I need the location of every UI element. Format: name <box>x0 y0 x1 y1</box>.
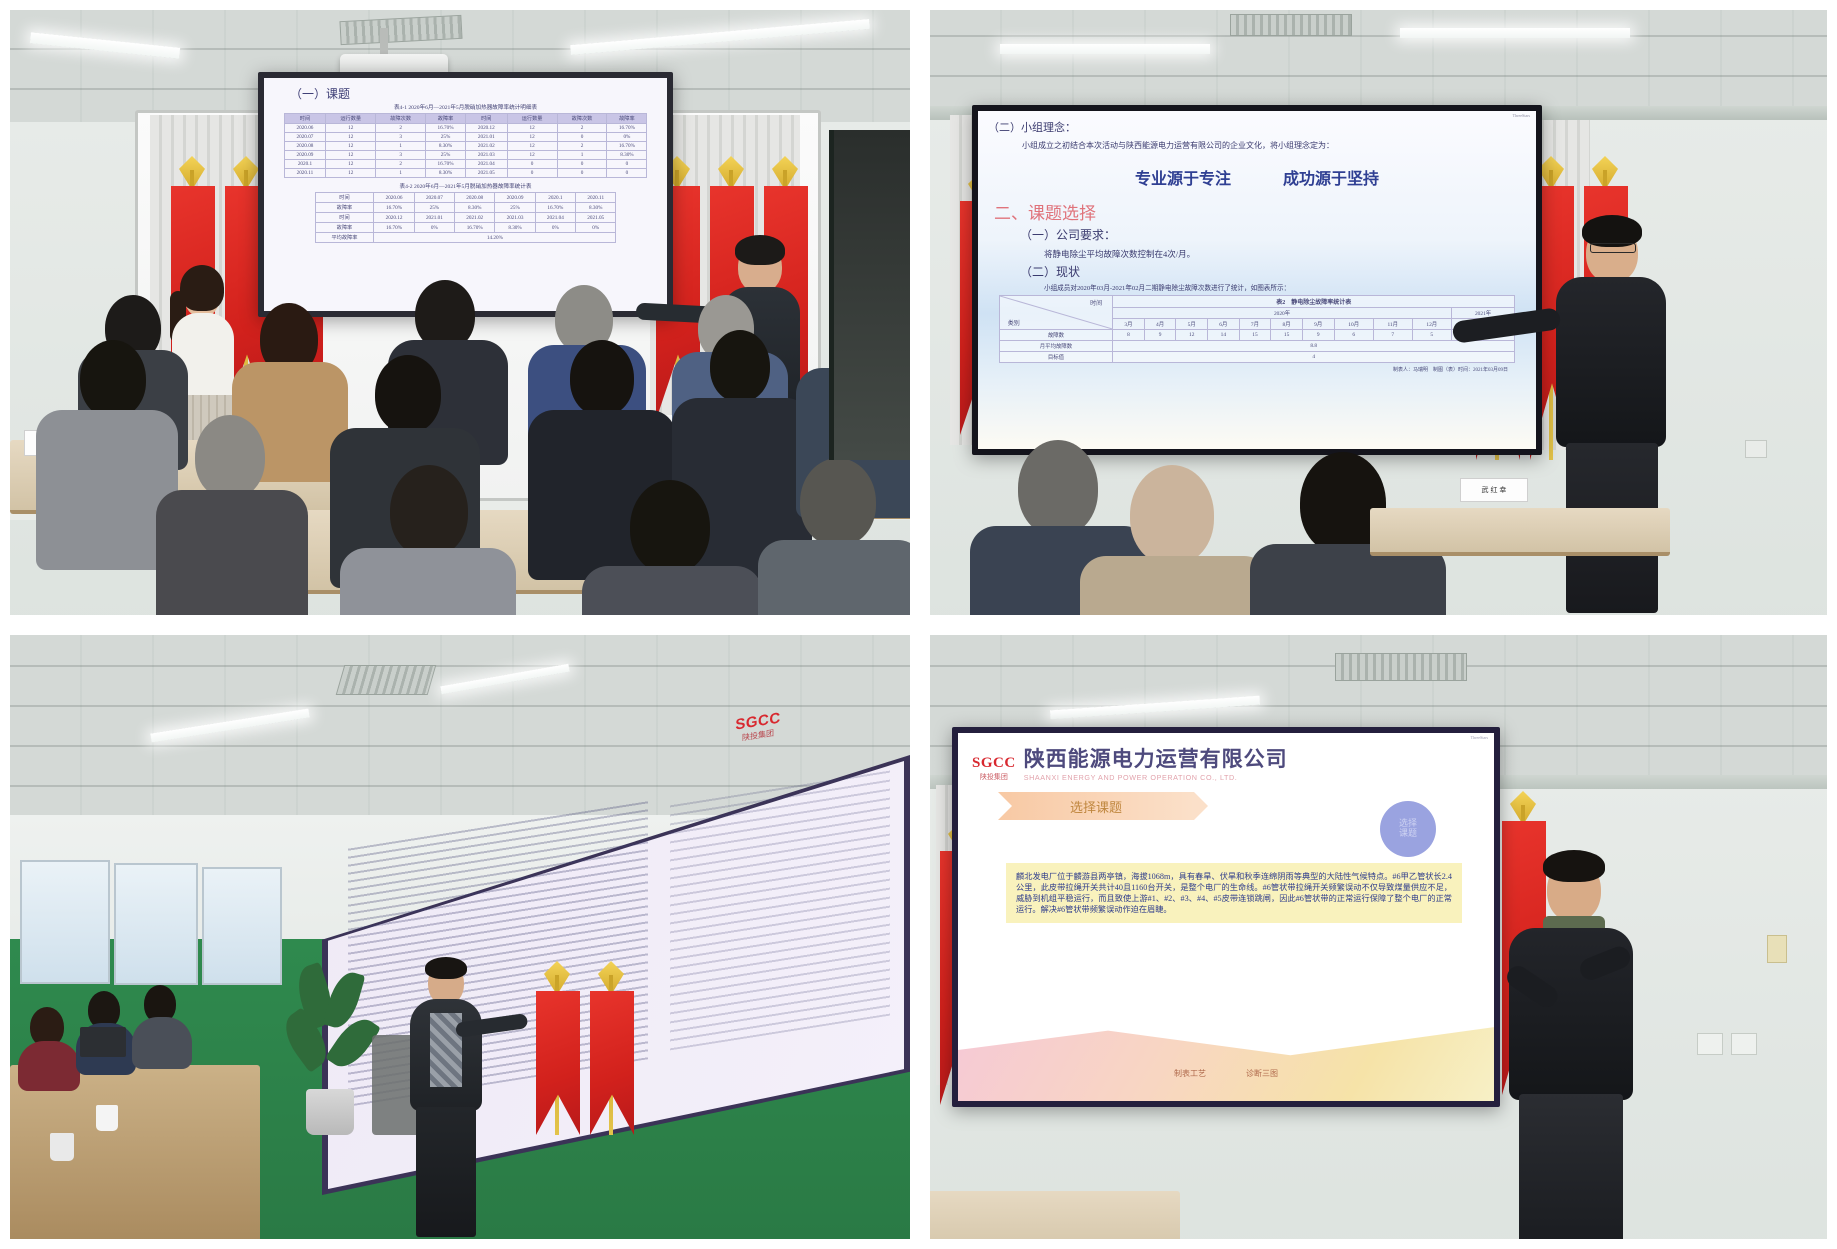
table-cell: 12 <box>326 151 376 160</box>
logo-block: SGCC 陕投集团 <box>972 755 1016 782</box>
table-row: 故障率16.70%0%16.70%8.30%0%0% <box>315 223 616 233</box>
nameplate: 武 红 幸 <box>1460 478 1528 502</box>
slide-footer-labels: 制表工艺 诊断三图 <box>958 1068 1494 1079</box>
table-row: 时间2020.122021.012021.022021.032021.04202… <box>315 213 616 223</box>
ceiling-vent <box>336 665 437 695</box>
table-title: 表2 静电除尘故障率统计表 <box>1113 296 1515 308</box>
audience-head <box>80 340 146 418</box>
month-header: 7月 <box>1239 319 1271 330</box>
table-cell: 2020.11 <box>576 193 616 203</box>
torso <box>18 1041 80 1091</box>
footer-right-label: 诊断三图 <box>1246 1068 1278 1079</box>
target-value: 4 <box>1113 352 1515 363</box>
hair <box>1543 850 1605 882</box>
fault-detail-table: 时间运行数量故障次数故障率时间运行数量故障次数故障率 2020.0612216.… <box>284 113 648 178</box>
table-cell: 2020.06 <box>284 124 326 133</box>
avg-value: 14.20% <box>374 233 616 243</box>
table-cell: 0 <box>607 160 647 169</box>
slide-top-right: ThreeStars （二）小组理念： 小组成立之初结合本次活动与陕西能源电力运… <box>978 111 1536 449</box>
table-cell: 0 <box>507 169 557 178</box>
table-caption-1: 表4-1 2020年6月—2021年5月脱硝加热器故障率统计明细表 <box>272 103 659 111</box>
table-cell: 2 <box>376 124 426 133</box>
potted-plant <box>286 965 374 1135</box>
table-cell: 8.30% <box>607 151 647 160</box>
slide-footer: 制表人：马瑞明 制图（表）时间：2021年03月09日 <box>988 366 1508 373</box>
table-cell: 0 <box>557 133 607 142</box>
torso-jacket <box>1556 277 1666 447</box>
slide-right-column <box>670 766 890 1051</box>
table-cell: 12 <box>326 142 376 151</box>
projection-screen: （一）课题 表4-1 2020年6月—2021年5月脱硝加热器故障率统计明细表 … <box>264 78 667 311</box>
logo-sub: 陕投集团 <box>980 772 1008 782</box>
presenter-male <box>1485 850 1675 1239</box>
table-cell: 0 <box>607 169 647 178</box>
fault-value: 7 <box>1373 330 1412 341</box>
table-cell: 16.70% <box>535 203 575 213</box>
table-cell: 2020.09 <box>495 193 535 203</box>
table-cell: 8.30% <box>495 223 535 233</box>
diagonal-divider-icon <box>1000 296 1112 329</box>
audience-head <box>390 465 468 557</box>
table-cell: 2021.01 <box>465 133 507 142</box>
fault-value: 15 <box>1271 330 1303 341</box>
table-row: 2020.0612216.70%2020.1212216.70% <box>284 124 647 133</box>
motto-right: 成功源于坚持 <box>1283 165 1379 189</box>
month-header: 8月 <box>1271 319 1303 330</box>
photo-top-left: （一）课题 表4-1 2020年6月—2021年5月脱硝加热器故障率统计明细表 … <box>10 10 910 615</box>
table-cell: 2020.08 <box>455 193 495 203</box>
banner-flag <box>530 965 584 1135</box>
legs <box>1519 1094 1623 1239</box>
table-cell: 2020.07 <box>284 133 326 142</box>
table-cell: 8.30% <box>576 203 616 213</box>
table-cell: 2 <box>376 160 426 169</box>
photo-bottom-right: ThreeStars SGCC 陕投集团 陕西能源电力运营有限公司 SHAANX… <box>930 635 1827 1239</box>
hair <box>735 235 785 265</box>
table-row-title: 时间 类别 表2 静电除尘故障率统计表 <box>999 296 1514 308</box>
window <box>114 863 198 985</box>
column-header: 故障率 <box>607 114 647 124</box>
logo-abbr: SGCC <box>972 755 1016 772</box>
table-cell: 25% <box>414 203 454 213</box>
column-header: 时间 <box>284 114 326 124</box>
table-cell: 8.30% <box>455 203 495 213</box>
pot <box>306 1089 354 1135</box>
table-cell: 12 <box>507 151 557 160</box>
fault-value: 9 <box>1144 330 1176 341</box>
fault-value: 6 <box>1334 330 1373 341</box>
slide-line1: （二）小组理念： <box>988 119 1526 135</box>
table-cell: 0 <box>507 160 557 169</box>
table-cell: 12 <box>326 133 376 142</box>
month-header: 10月 <box>1334 319 1373 330</box>
table-cell: 2021.04 <box>465 160 507 169</box>
wall-outlet <box>1697 1033 1723 1055</box>
table-cell: 2021.04 <box>535 213 575 223</box>
table-cell: 1 <box>557 151 607 160</box>
wall-outlet <box>1745 440 1767 458</box>
month-header: 3月 <box>1113 319 1145 330</box>
section-ribbon: 选择课题 <box>998 792 1194 820</box>
table-cell: 2021.05 <box>576 213 616 223</box>
company-name-cn: 陕西能源电力运营有限公司 <box>1024 743 1288 773</box>
fault-value: 9 <box>1302 330 1334 341</box>
month-header: 6月 <box>1208 319 1240 330</box>
brand-badge-threestars: ThreeStars <box>1513 113 1530 118</box>
slide-line2: 小组成立之初结合本次活动与陕西能源电力运营有限公司的企业文化，将小组理念定为： <box>1022 140 1526 151</box>
body-text-box: 麟北发电厂位于麟游县两亭镇，海拔1068m，具有春旱、伏旱和秋季连绵阴雨等典型的… <box>1006 863 1462 923</box>
panel-top-left: （一）课题 表4-1 2020年6月—2021年5月脱硝加热器故障率统计明细表 … <box>0 0 920 625</box>
table-row: 2020.112216.70%2021.04000 <box>284 160 647 169</box>
glasses-icon <box>1590 243 1636 253</box>
month-header: 4月 <box>1144 319 1176 330</box>
table-cell: 16.70% <box>426 160 466 169</box>
table-cell: 25% <box>426 151 466 160</box>
table-cell: 12 <box>507 124 557 133</box>
hair <box>425 957 467 979</box>
month-header: 11月 <box>1373 319 1412 330</box>
row-label: 故障数 <box>999 330 1112 341</box>
dust-fault-table: 时间 类别 表2 静电除尘故障率统计表 2020年 2021年 3月4月5月6 <box>999 295 1515 363</box>
table-cell: 2020.09 <box>284 151 326 160</box>
ceiling <box>930 10 1827 115</box>
table-cell: 12 <box>326 169 376 178</box>
legs <box>416 1107 476 1237</box>
audience-table <box>1370 508 1670 556</box>
panel-bottom-right: ThreeStars SGCC 陕投集团 陕西能源电力运营有限公司 SHAANX… <box>920 625 1837 1249</box>
table-cell: 16.70% <box>426 124 466 133</box>
table-cell: 故障率 <box>315 223 374 233</box>
company-block: 陕西能源电力运营有限公司 SHAANXI ENERGY AND POWER OP… <box>1024 743 1288 782</box>
table-cell: 2 <box>557 142 607 151</box>
photo-bottom-left: SGCC 陕投集团 <box>10 635 910 1239</box>
flag-group <box>530 965 638 1135</box>
sub2-text: 小组成员对2020年03月-2021年02月二期静电除尘故障次数进行了统计，如图… <box>1044 282 1526 292</box>
section-title: 二、课题选择 <box>994 199 1526 224</box>
projection-screen: ThreeStars （二）小组理念： 小组成立之初结合本次活动与陕西能源电力运… <box>978 111 1536 449</box>
sub1: （一）公司要求： <box>1020 226 1526 243</box>
avg-label: 平均故障率 <box>315 233 374 243</box>
table-cell: 0% <box>576 223 616 233</box>
column-header: 时间 <box>465 114 507 124</box>
audience-body <box>156 490 308 615</box>
slide-bottom-right: ThreeStars SGCC 陕投集团 陕西能源电力运营有限公司 SHAANX… <box>958 733 1494 1101</box>
table-cell: 时间 <box>315 213 374 223</box>
table-cell: 时间 <box>315 193 374 203</box>
photo-collage: （一）课题 表4-1 2020年6月—2021年5月脱硝加热器故障率统计明细表 … <box>0 0 1837 1249</box>
fault-value: 12 <box>1176 330 1208 341</box>
hair <box>180 265 224 311</box>
table-row: 2020.0712325%2021.011200% <box>284 133 647 142</box>
table-cell: 2021.03 <box>465 151 507 160</box>
table-cell: 2020.08 <box>284 142 326 151</box>
table-cell: 3 <box>376 151 426 160</box>
fault-value: 5 <box>1412 330 1451 341</box>
table-cell: 16.70% <box>374 223 414 233</box>
table-cell: 2 <box>557 124 607 133</box>
avg-value: 8.8 <box>1113 341 1515 352</box>
ceiling-vent <box>1335 653 1467 681</box>
photo-top-right: ThreeStars （二）小组理念： 小组成立之初结合本次活动与陕西能源电力运… <box>930 10 1827 615</box>
table-row-faults: 故障数8912141515967543 <box>999 330 1514 341</box>
audience-body <box>340 548 516 615</box>
audience-body <box>758 540 910 615</box>
banner-flag <box>584 965 638 1135</box>
footer-left-label: 制表工艺 <box>1174 1068 1206 1079</box>
audience-body <box>582 566 762 615</box>
audience-body <box>1080 556 1270 615</box>
presenter-male <box>392 957 502 1239</box>
brand-badge-threestars: ThreeStars <box>1471 735 1488 740</box>
window <box>20 860 110 984</box>
slide-brand-header: SGCC 陕投集团 陕西能源电力运营有限公司 SHAANXI ENERGY AN… <box>972 743 1480 782</box>
topic-badge: 选择 课题 <box>1380 801 1436 857</box>
table-cell: 2020.06 <box>374 193 414 203</box>
table-cell: 16.70% <box>607 124 647 133</box>
table-cell: 2020.07 <box>414 193 454 203</box>
audience-head <box>800 458 876 546</box>
table-cell: 2021.02 <box>455 213 495 223</box>
table-cell: 2021.03 <box>495 213 535 223</box>
fault-summary-table: 时间2020.062020.072020.082020.092020.12020… <box>315 192 617 243</box>
audience-head <box>570 340 634 416</box>
table-cell: 8.30% <box>426 169 466 178</box>
judge <box>132 985 192 1065</box>
table-row: 2020.0912325%2021.031218.30% <box>284 151 647 160</box>
table-cell: 1 <box>376 169 426 178</box>
judges-table <box>10 1065 260 1239</box>
table-cell: 2021.02 <box>465 142 507 151</box>
window <box>202 867 282 985</box>
motto-left: 专业源于专注 <box>1135 165 1231 189</box>
column-header: 故障次数 <box>557 114 607 124</box>
ceiling-light <box>1400 28 1630 38</box>
table-cell: 12 <box>507 133 557 142</box>
table-row: 故障率16.70%25%8.30%25%16.70%8.30% <box>315 203 616 213</box>
table-cell: 2020.12 <box>374 213 414 223</box>
projection-screen-frame: （一）课题 表4-1 2020年6月—2021年5月脱硝加热器故障率统计明细表 … <box>258 72 673 317</box>
slide-top-left: （一）课题 表4-1 2020年6月—2021年5月脱硝加热器故障率统计明细表 … <box>264 78 667 311</box>
target-label: 目标值 <box>999 352 1112 363</box>
audience-head <box>375 355 441 433</box>
table-caption-2: 表4-2 2020年6月—2021年5月脱硝加热器故障率统计表 <box>272 182 659 190</box>
table-cell: 8.30% <box>426 142 466 151</box>
audience-head <box>710 330 770 402</box>
table-footer-row: 平均故障率 14.20% <box>315 233 616 243</box>
projection-screen-frame: ThreeStars SGCC 陕投集团 陕西能源电力运营有限公司 SHAANX… <box>952 727 1500 1107</box>
table-cell: 3 <box>376 133 426 142</box>
panel-bottom-left: SGCC 陕投集团 <box>0 625 920 1249</box>
fault-value: 8 <box>1113 330 1145 341</box>
table-cell: 2020.12 <box>465 124 507 133</box>
table-cell: 2021.01 <box>414 213 454 223</box>
wall-outlet <box>1731 1033 1757 1055</box>
table-cell: 25% <box>495 203 535 213</box>
table-row-target: 目标值 4 <box>999 352 1514 363</box>
door-frame <box>829 130 910 460</box>
table-row: 时间2020.062020.072020.082020.092020.12020… <box>315 193 616 203</box>
table-cell: 16.70% <box>607 142 647 151</box>
column-header: 运行数量 <box>326 114 376 124</box>
column-header: 运行数量 <box>507 114 557 124</box>
table-cell: 12 <box>507 142 557 151</box>
sub1-text: 将静电除尘平均故障次数控制在4次/月。 <box>1044 248 1526 260</box>
table-row: 2020.111218.30%2021.05000 <box>284 169 647 178</box>
table-cell: 16.70% <box>374 203 414 213</box>
projection-screen: ThreeStars SGCC 陕投集团 陕西能源电力运营有限公司 SHAANX… <box>958 733 1494 1101</box>
table-cell: 25% <box>426 133 466 142</box>
decorative-wave <box>958 1013 1494 1101</box>
table-cell: 12 <box>326 160 376 169</box>
fault-value: 14 <box>1208 330 1240 341</box>
table-cell: 16.70% <box>455 223 495 233</box>
ceiling-vent <box>1230 14 1352 36</box>
judge <box>18 1007 80 1085</box>
company-name-en: SHAANXI ENERGY AND POWER OPERATION CO., … <box>1024 773 1288 782</box>
column-header: 故障次数 <box>376 114 426 124</box>
ceiling-light <box>1000 44 1210 54</box>
table-row-avg: 月平均故障数 8.8 <box>999 341 1514 352</box>
audience-head <box>195 415 265 499</box>
audience-head <box>630 480 710 574</box>
table-cell: 0 <box>557 160 607 169</box>
month-header: 5月 <box>1176 319 1208 330</box>
table-cell: 0% <box>607 133 647 142</box>
foreground-table <box>930 1191 1180 1239</box>
fire-extinguisher-sign <box>1767 935 1787 963</box>
panel-top-right: ThreeStars （二）小组理念： 小组成立之初结合本次活动与陕西能源电力运… <box>920 0 1837 625</box>
audience-head <box>1018 440 1098 536</box>
slide-heading: （一）课题 <box>290 85 659 102</box>
cup <box>50 1133 74 1161</box>
projection-screen-frame: ThreeStars （二）小组理念： 小组成立之初结合本次活动与陕西能源电力运… <box>972 105 1542 455</box>
ribbon-label: 选择课题 <box>1070 797 1122 816</box>
avg-label: 月平均故障数 <box>999 341 1112 352</box>
table-cell: 2020.11 <box>284 169 326 178</box>
table-cell: 2020.1 <box>284 160 326 169</box>
audience-head <box>1130 465 1214 565</box>
fault-value: 15 <box>1239 330 1271 341</box>
table-row: 2020.081218.30%2021.0212216.70% <box>284 142 647 151</box>
month-header: 12月 <box>1412 319 1451 330</box>
table-cell: 0% <box>414 223 454 233</box>
corner-cell: 时间 类别 <box>999 296 1112 330</box>
table-cell: 2020.1 <box>535 193 575 203</box>
torso <box>132 1017 192 1069</box>
laptop <box>80 1027 126 1057</box>
year-2020: 2020年 <box>1113 308 1452 319</box>
table-cell: 故障率 <box>315 203 374 213</box>
table-cell: 0% <box>535 223 575 233</box>
table-cell: 2021.05 <box>465 169 507 178</box>
sub2: （二）现状 <box>1020 263 1526 280</box>
cup <box>96 1105 118 1131</box>
table-cell: 1 <box>376 142 426 151</box>
column-header: 故障率 <box>426 114 466 124</box>
month-header: 9月 <box>1302 319 1334 330</box>
table-header-row: 时间运行数量故障次数故障率时间运行数量故障次数故障率 <box>284 114 647 124</box>
table-cell: 12 <box>326 124 376 133</box>
table-cell: 0 <box>557 169 607 178</box>
